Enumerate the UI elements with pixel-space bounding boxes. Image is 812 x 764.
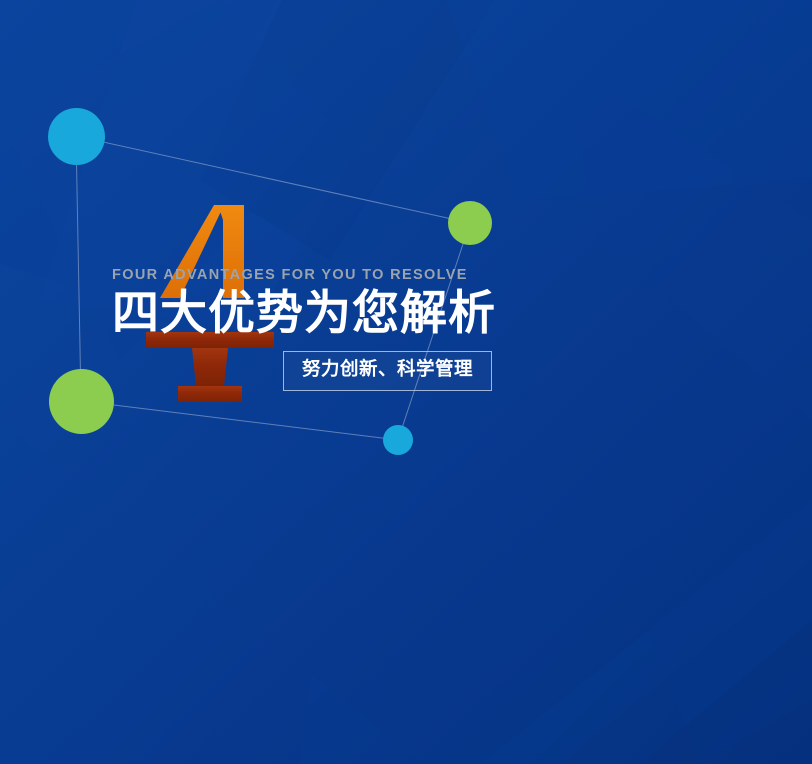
network-node-top-right: [448, 201, 492, 245]
banner-eyebrow: FOUR ADVANTAGES FOR YOU TO RESOLVE: [112, 268, 752, 283]
banner-copy: FOUR ADVANTAGES FOR YOU TO RESOLVE 四大优势为…: [112, 268, 752, 339]
emblem-plinth: [146, 332, 274, 402]
banner-tagline: 努力创新、科学管理: [302, 361, 473, 380]
network-node-bottom-left: [49, 369, 114, 434]
edge-bl-br: [81, 401, 398, 440]
network-node-top-left: [48, 108, 105, 165]
banner-tagline-box[interactable]: 努力创新、科学管理: [283, 351, 492, 391]
network-node-bottom-right: [383, 425, 413, 455]
banner-headline: 四大优势为您解析: [112, 289, 752, 340]
edge-tl-bl: [76, 136, 81, 401]
banner-canvas: FOUR ADVANTAGES FOR YOU TO RESOLVE 四大优势为…: [0, 0, 812, 764]
